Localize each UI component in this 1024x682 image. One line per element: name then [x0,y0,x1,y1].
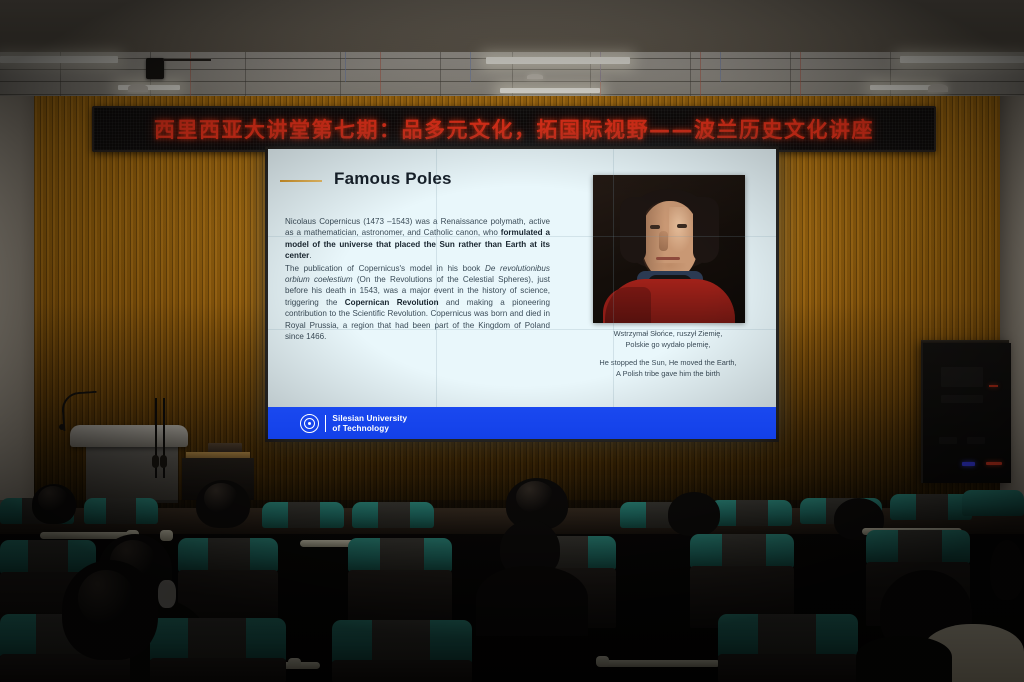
caption-polish-2: Polskie go wydało plemię, [568,340,768,351]
ceiling-light-strip [500,88,600,93]
face-mask [158,580,176,608]
mount-arm [163,59,211,61]
paragraph-1: Nicolaus Copernicus (1473 –1543) was a R… [285,216,550,262]
ceiling-light-strip [486,57,630,64]
ceiling-light-strip [900,56,1024,63]
gooseneck-microphone-icon [61,391,100,431]
projection-screen: Famous Poles Nicolaus Copernicus (1473 –… [265,146,779,442]
slide-footer-bar: Silesian University of Technology [268,407,776,439]
audience-shoulders [856,636,952,682]
title-accent-rule [280,180,322,182]
ceiling-dome-light [928,84,948,92]
rack-status-led-blue [962,462,975,466]
logo-line-1: Silesian University [332,414,407,423]
mic-capsule [152,455,159,468]
led-banner-text: 西里西亚大讲堂第七期：品多元文化，拓国际视野——波兰历史文化讲座 [94,108,934,150]
seat [962,490,1024,516]
audience-shoulders [476,566,588,636]
logo-line-2: of Technology [332,424,407,433]
ceiling-upper-surface [0,0,1024,58]
portrait-caption: Wstrzymał Słońce, ruszył Ziemię, Polskie… [568,329,768,379]
rack-status-led-red [989,385,998,387]
ceiling-light-strip [0,56,118,63]
audience-head [668,492,720,536]
microphone-head [59,424,65,430]
slide-title: Famous Poles [334,169,452,189]
paragraph-2: The publication of Copernicus's model in… [285,263,550,343]
ceiling-speaker [527,74,543,79]
mic-capsule [160,455,167,468]
university-logo: Silesian University of Technology [300,414,407,433]
logo-divider [325,415,326,432]
lecture-hall-photo: 西里西亚大讲堂第七期：品多元文化，拓国际视野——波兰历史文化讲座 Famous … [0,0,1024,682]
wall-left-column [0,96,34,516]
audience-head [990,540,1024,600]
caption-english-1: He stopped the Sun, He moved the Earth, [568,358,768,369]
copernicus-portrait-image [593,175,745,323]
rack-status-led-red [986,462,1002,465]
seat-arm-rail [600,660,720,667]
projector-mount-icon [146,58,164,79]
logo-text: Silesian University of Technology [332,414,407,433]
caption-polish-1: Wstrzymał Słońce, ruszył Ziemię, [568,329,768,340]
gear-emblem-icon [300,414,319,433]
presentation-slide: Famous Poles Nicolaus Copernicus (1473 –… [268,149,776,439]
ceiling-dome-light [128,84,148,92]
slide-body-text: Nicolaus Copernicus (1473 –1543) was a R… [285,216,550,343]
caption-english-2: A Polish tribe gave him the birth [568,369,768,380]
